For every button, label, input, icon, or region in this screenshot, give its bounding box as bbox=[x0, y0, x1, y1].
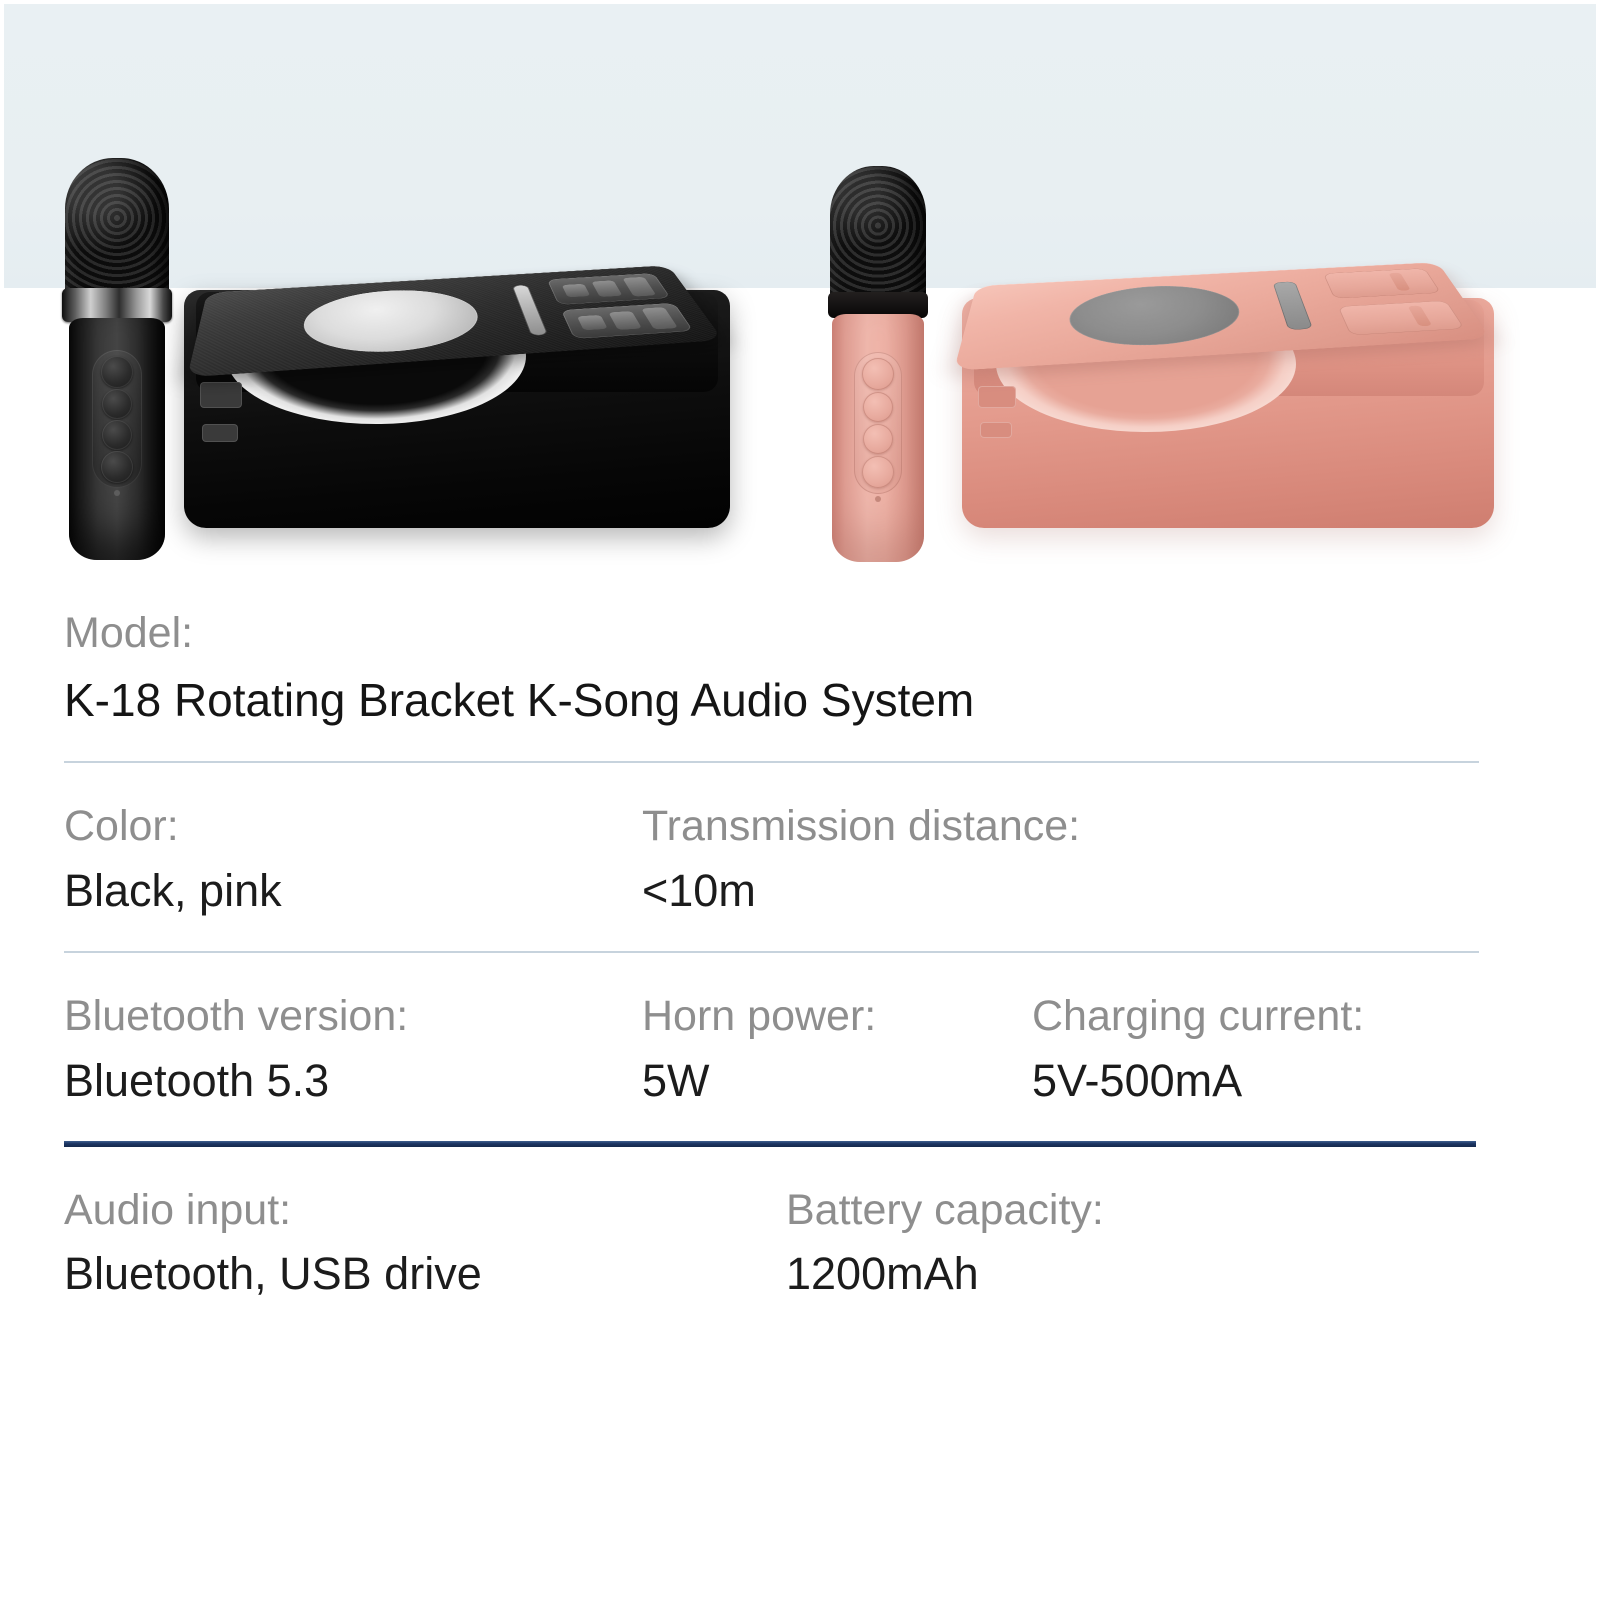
lid-bracket-clip-top bbox=[547, 273, 671, 305]
product-photo-stage bbox=[0, 0, 1600, 580]
microphone-effect-button[interactable] bbox=[101, 451, 133, 483]
lid-slot bbox=[1273, 281, 1313, 330]
microphone-led-indicator bbox=[114, 490, 120, 496]
lid-speaker-grille bbox=[303, 286, 487, 358]
lid-clip-bar-b bbox=[1408, 305, 1433, 326]
microphone-volume-down-button[interactable] bbox=[102, 420, 132, 450]
lid-bracket-clip-bottom bbox=[561, 303, 693, 339]
spec-cell-charging-current: Charging current: 5V-500mA bbox=[1032, 991, 1364, 1107]
spec-value-audio-input: Bluetooth, USB drive bbox=[64, 1247, 786, 1300]
lid-bracket-clip-bottom bbox=[1338, 300, 1465, 335]
lid-clip-bar-b bbox=[591, 280, 622, 297]
spec-cell-battery-capacity: Battery capacity: 1200mAh bbox=[786, 1185, 1104, 1301]
product-image-banner bbox=[0, 0, 1600, 580]
lid-clip-bar-c bbox=[622, 277, 656, 297]
lid-slot bbox=[512, 285, 548, 336]
spec-label-color: Color: bbox=[64, 801, 642, 852]
pink-speaker-unit bbox=[940, 168, 1510, 558]
microphone-power-button[interactable] bbox=[101, 356, 133, 388]
spec-value-battery-capacity: 1200mAh bbox=[786, 1247, 1104, 1300]
spec-value-color: Black, pink bbox=[64, 864, 642, 917]
spec-row-3: Audio input: Bluetooth, USB drive Batter… bbox=[0, 1147, 1600, 1301]
spec-label-audio-input: Audio input: bbox=[64, 1185, 786, 1236]
lid-clip-bar-a bbox=[562, 284, 591, 298]
spec-label-battery-capacity: Battery capacity: bbox=[786, 1185, 1104, 1236]
speaker-usb-port bbox=[978, 386, 1016, 408]
spec-label-charging-current: Charging current: bbox=[1032, 991, 1364, 1042]
spec-cell-horn-power: Horn power: 5W bbox=[642, 991, 1032, 1107]
spec-model: Model: K-18 Rotating Bracket K-Song Audi… bbox=[0, 580, 1600, 727]
spec-cell-transmission-distance: Transmission distance: <10m bbox=[642, 801, 1080, 917]
microphone-power-button[interactable] bbox=[862, 358, 894, 390]
microphone-volume-up-button[interactable] bbox=[863, 392, 893, 422]
spec-value-charging-current: 5V-500mA bbox=[1032, 1054, 1364, 1107]
speaker-usb-port bbox=[200, 382, 242, 408]
spec-row-2: Bluetooth version: Bluetooth 5.3 Horn po… bbox=[0, 953, 1600, 1107]
spec-label-bluetooth-version: Bluetooth version: bbox=[64, 991, 642, 1042]
spec-value-bluetooth-version: Bluetooth 5.3 bbox=[64, 1054, 642, 1107]
spec-value-model: K-18 Rotating Bracket K-Song Audio Syste… bbox=[64, 673, 1536, 727]
lid-clip-bar-e bbox=[608, 311, 642, 330]
spec-cell-audio-input: Audio input: Bluetooth, USB drive bbox=[64, 1185, 786, 1301]
microphone-volume-down-button[interactable] bbox=[863, 424, 893, 454]
microphone-volume-up-button[interactable] bbox=[102, 389, 132, 419]
lid-clip-bar-a bbox=[1388, 273, 1410, 291]
microphone-metal-band bbox=[62, 288, 172, 322]
specification-table: Model: K-18 Rotating Bracket K-Song Audi… bbox=[0, 580, 1600, 1300]
spec-value-horn-power: 5W bbox=[642, 1054, 1032, 1107]
lid-clip-bar-d bbox=[577, 315, 608, 330]
microphone-led-indicator bbox=[875, 496, 881, 502]
speaker-charging-port bbox=[202, 424, 238, 442]
black-microphone bbox=[52, 158, 182, 558]
spec-label-model: Model: bbox=[64, 608, 1536, 659]
spec-cell-color: Color: Black, pink bbox=[64, 801, 642, 917]
black-speaker-unit bbox=[178, 170, 748, 560]
lid-clip-bar-f bbox=[641, 307, 678, 329]
microphone-effect-button[interactable] bbox=[862, 456, 894, 488]
spec-row-1: Color: Black, pink Transmission distance… bbox=[0, 763, 1600, 917]
lid-speaker-grille bbox=[1067, 282, 1246, 350]
speaker-charging-port bbox=[980, 422, 1012, 438]
lid-bracket-clip-top bbox=[1323, 268, 1441, 299]
microphone-mesh-head-icon bbox=[65, 158, 169, 308]
spec-value-transmission-distance: <10m bbox=[642, 864, 1080, 917]
spec-label-transmission-distance: Transmission distance: bbox=[642, 801, 1080, 852]
spec-label-horn-power: Horn power: bbox=[642, 991, 1032, 1042]
pink-microphone bbox=[818, 166, 938, 558]
microphone-mesh-head-icon bbox=[830, 166, 926, 308]
spec-cell-bluetooth-version: Bluetooth version: Bluetooth 5.3 bbox=[64, 991, 642, 1107]
